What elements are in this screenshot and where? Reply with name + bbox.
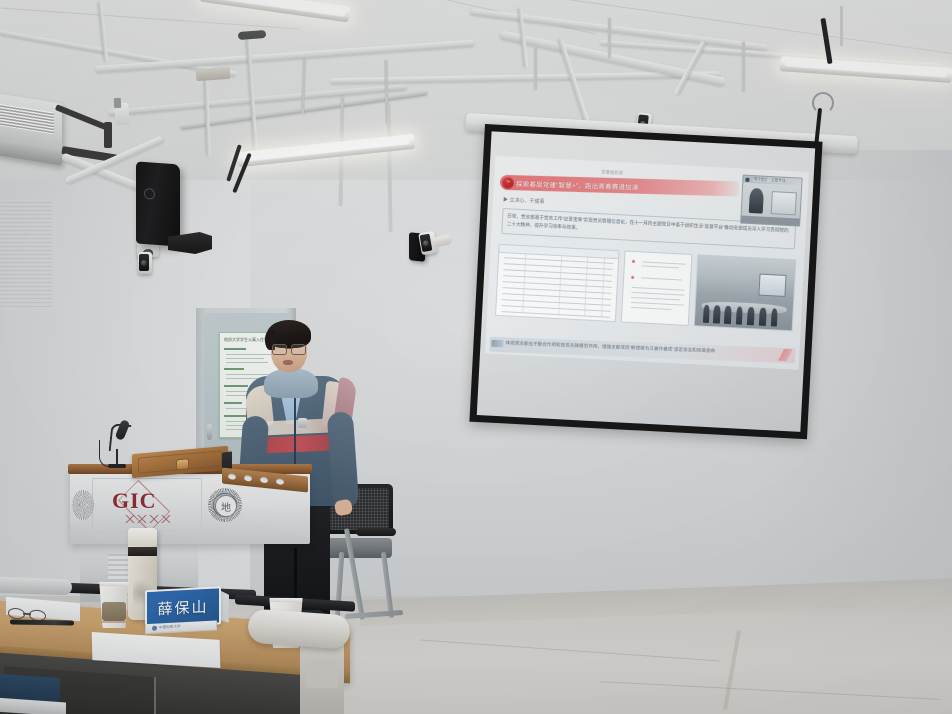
screen-canvas: 党委组织部 探索基层党建“智慧+”，跑出青春赛道加速 ▶ 立决心、干成事 日常，… bbox=[477, 131, 815, 432]
meeting-attendee bbox=[702, 305, 710, 324]
rolled-tube bbox=[0, 577, 72, 596]
doc-node-icon bbox=[632, 260, 635, 263]
ac-vent bbox=[0, 103, 54, 134]
ledge-hole bbox=[276, 478, 284, 485]
ceiling-fixture-plate bbox=[196, 67, 231, 81]
vc-app-icon bbox=[745, 177, 749, 181]
slide-card-document bbox=[621, 250, 692, 325]
table-column-divider bbox=[522, 254, 526, 313]
footer-accent-icon bbox=[778, 349, 792, 362]
projection-screen: 党委组织部 探索基层党建“智慧+”，跑出青春赛道加速 ▶ 立决心、干成事 日常，… bbox=[469, 124, 822, 439]
slide-bullet: ▶ 立决心、干成事 bbox=[503, 196, 545, 205]
speaker-logo-icon bbox=[144, 188, 155, 200]
front-desk-leg-cutout bbox=[306, 660, 338, 688]
slide-title-banner: 探索基层党建“智慧+”，跑出青春赛道加速 bbox=[500, 175, 739, 197]
meeting-attendee bbox=[724, 306, 732, 325]
doc-node-icon bbox=[631, 276, 634, 279]
presenter-mouth bbox=[283, 360, 293, 365]
wall-camera-left bbox=[138, 252, 152, 274]
meeting-room-screen bbox=[758, 274, 786, 297]
vc-participant bbox=[749, 188, 764, 213]
podium-seal-emblem: 地 bbox=[208, 488, 242, 522]
slide-card-meeting-photo bbox=[693, 254, 796, 331]
party-emblem-icon bbox=[502, 176, 514, 188]
thermos-cap[interactable] bbox=[128, 528, 157, 546]
slide-card-row bbox=[495, 244, 796, 331]
mic-base bbox=[108, 464, 126, 468]
name-card-org-text: 中国地质大学 bbox=[159, 624, 181, 630]
presenter-hand-right bbox=[334, 498, 354, 516]
ledge-hole bbox=[244, 475, 252, 482]
pipe-hanger bbox=[534, 48, 537, 90]
camera-lens-icon bbox=[141, 260, 147, 266]
lecture-room-photo: 党委组织部 探索基层党建“智慧+”，跑出青春赛道加速 ▶ 立决心、干成事 日常，… bbox=[0, 0, 952, 714]
slide-card-member-table bbox=[495, 244, 620, 322]
pipe-hanger bbox=[742, 42, 745, 92]
meeting-attendee bbox=[747, 307, 755, 326]
doc-text-line bbox=[642, 262, 685, 265]
podium-seal-glyph: 地 bbox=[215, 495, 237, 517]
vc-shared-screen bbox=[770, 191, 796, 215]
chair-armrest bbox=[356, 528, 396, 536]
org-logo-icon bbox=[152, 626, 157, 631]
presenter-glasses bbox=[272, 344, 306, 353]
name-card: 薛保山 中国地质大学 bbox=[145, 586, 229, 632]
pipe-hanger bbox=[608, 18, 611, 58]
cup-rim bbox=[98, 582, 130, 586]
slide-top-label: 党委组织部 bbox=[601, 169, 623, 176]
cylindrical-object[interactable] bbox=[247, 608, 351, 649]
jacket-hood bbox=[264, 368, 318, 398]
presentation-slide: 党委组织部 探索基层党建“智慧+”，跑出青春赛道加速 ▶ 立决心、干成事 日常，… bbox=[485, 156, 809, 370]
podium-seal-left bbox=[72, 490, 94, 520]
lectern-handle[interactable] bbox=[176, 458, 189, 470]
meeting-attendee bbox=[713, 305, 721, 324]
doc-text-line bbox=[631, 292, 683, 296]
table-column-divider bbox=[601, 258, 605, 317]
gic-logo-text: GIC bbox=[112, 488, 157, 514]
table-column-divider bbox=[584, 258, 588, 317]
table-row bbox=[501, 311, 611, 318]
meeting-attendee bbox=[759, 308, 767, 327]
doc-text-line bbox=[631, 302, 683, 306]
cup-rim bbox=[268, 598, 304, 602]
pipe-valve bbox=[114, 98, 122, 108]
doc-text-line bbox=[632, 287, 684, 291]
screen-hook-icon bbox=[812, 92, 834, 114]
doc-text-line bbox=[631, 306, 672, 309]
doc-text-line bbox=[631, 297, 680, 301]
doc-text-line bbox=[641, 277, 682, 280]
cup-band bbox=[100, 621, 128, 623]
air-conditioner bbox=[0, 92, 62, 165]
light-hanger-rod bbox=[840, 6, 843, 46]
paper-cup-left[interactable] bbox=[98, 582, 130, 628]
table-column-divider bbox=[558, 256, 562, 315]
footer-badge-icon bbox=[491, 339, 503, 346]
gic-zigzag-icon bbox=[124, 515, 170, 523]
slide-footer-banner: 体现党支部在不整合作用和党员先锋模范作用，增强支部成员“敢想敢为又善作善成”坚定… bbox=[489, 337, 795, 364]
cup-contents bbox=[102, 602, 125, 620]
slide-footer-text: 体现党支部在不整合作用和党员先锋模范作用，增强支部成员“敢想敢为又善作善成”坚定… bbox=[505, 340, 715, 354]
projector-arm bbox=[104, 122, 112, 148]
presenter-arm-right bbox=[327, 411, 360, 509]
doc-text-line bbox=[642, 266, 679, 269]
wall-grate bbox=[0, 200, 52, 310]
ledge-hole bbox=[260, 476, 268, 483]
door-handle[interactable] bbox=[207, 424, 212, 440]
slide-title: 探索基层党建“智慧+”，跑出青春赛道加速 bbox=[516, 178, 639, 191]
name-card-name: 薛保山 bbox=[157, 595, 208, 619]
ledge-hole bbox=[228, 473, 236, 480]
video-conference-inset: 腾讯会议 · 主题党日 党支部主题党日活动 bbox=[740, 175, 802, 227]
podium-gic-logo: GIC bbox=[104, 486, 190, 522]
ceiling-speaker bbox=[136, 161, 180, 246]
jacket-badge bbox=[298, 418, 307, 428]
thermos-band bbox=[128, 547, 157, 556]
